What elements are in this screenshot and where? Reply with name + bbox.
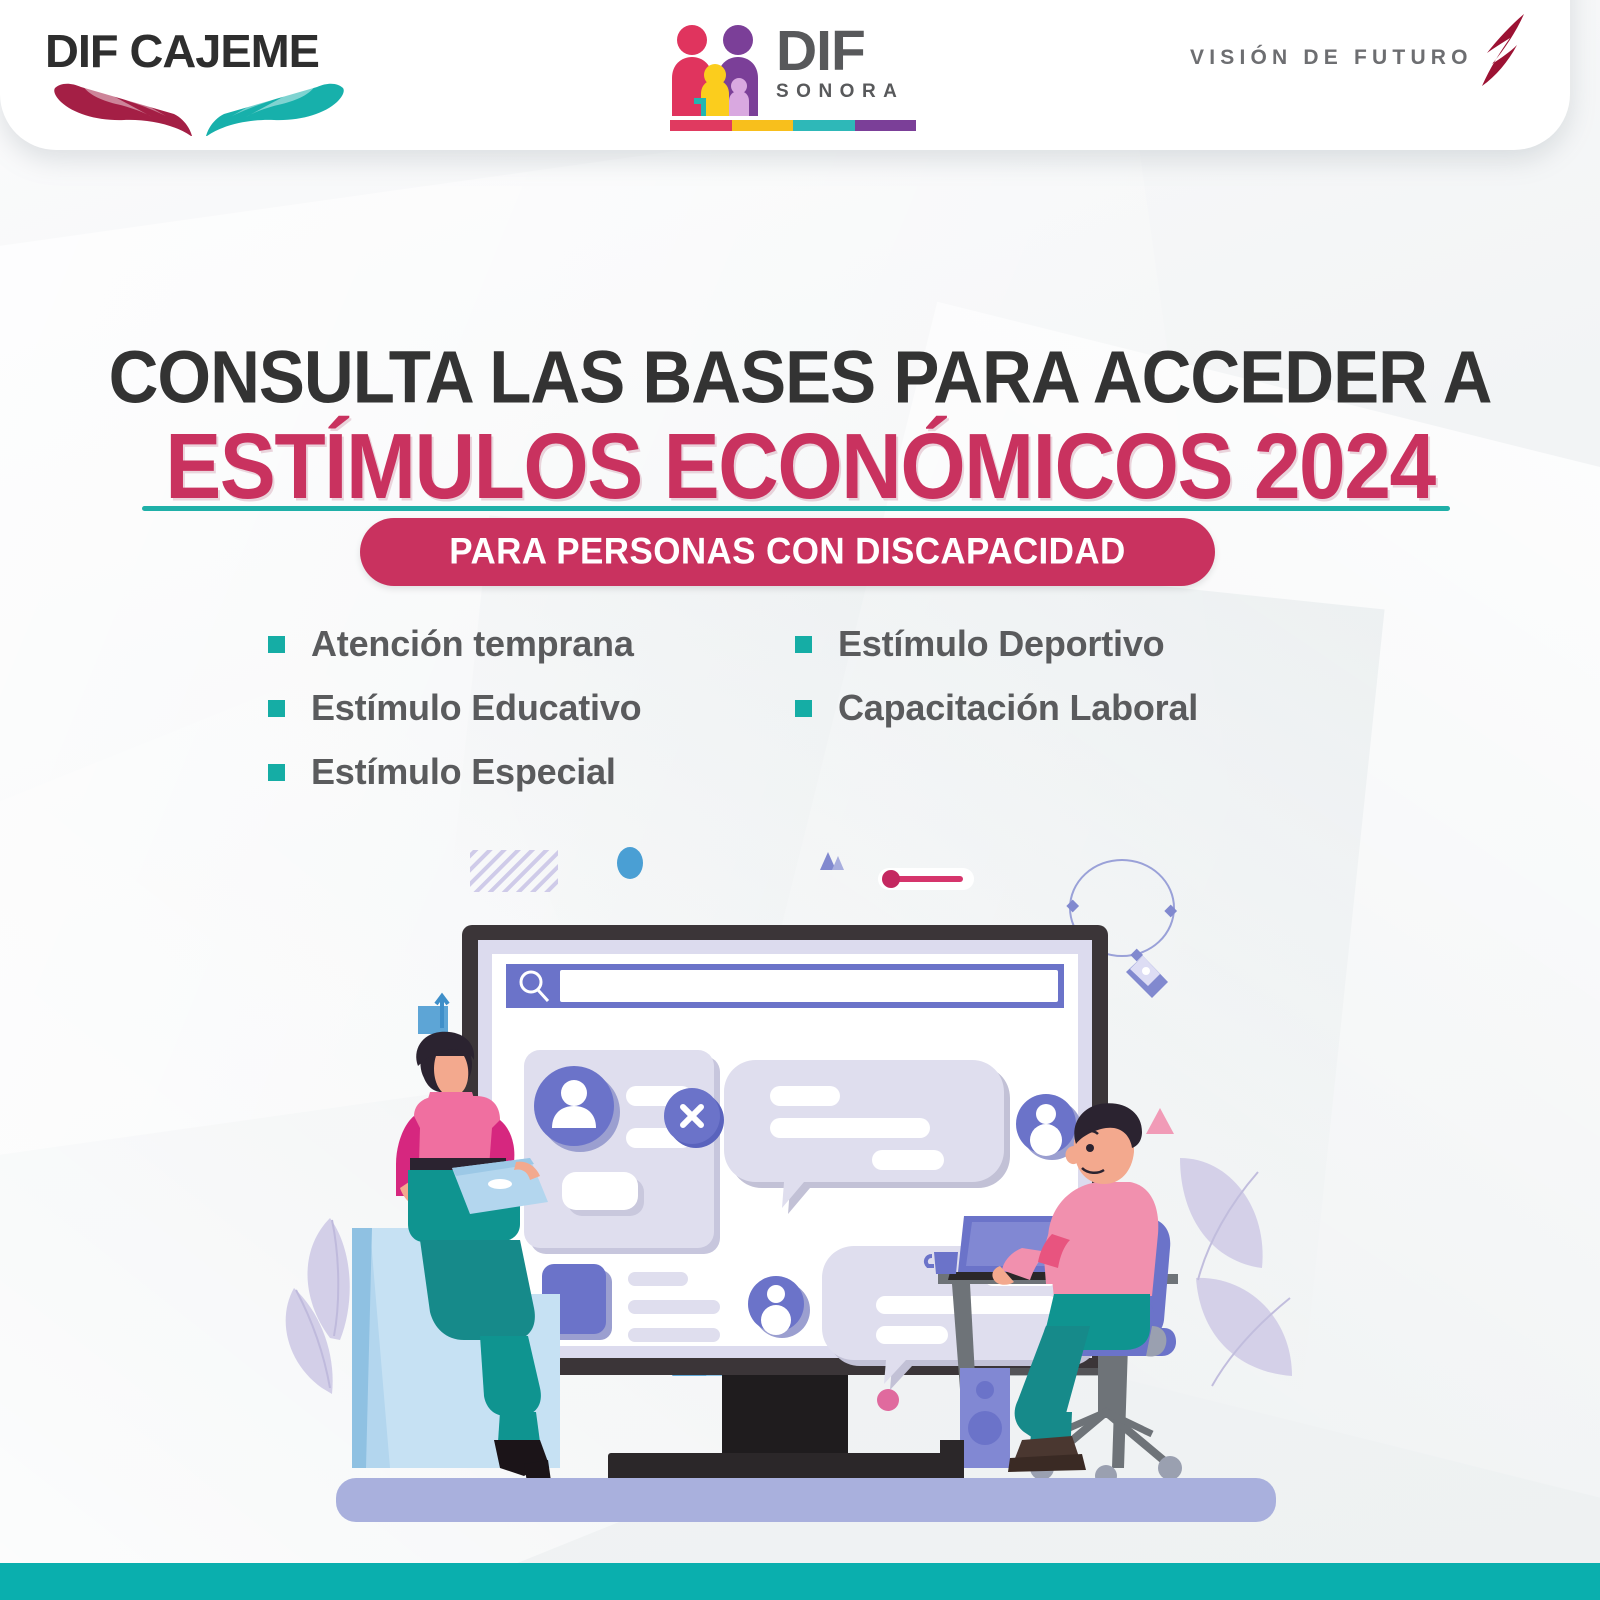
leaf-plant-decoration-right <box>1180 1158 1292 1386</box>
title-underline-rule <box>142 506 1450 511</box>
floor-platform <box>336 1478 1276 1522</box>
arrow-swoosh-icon <box>1458 10 1528 90</box>
header-card: DIF CAJEME DIF SONORA <box>0 0 1570 150</box>
title-block: CONSULTA LAS BASES PARA ACCEDER A ESTÍMU… <box>0 340 1600 504</box>
bullet-square-icon <box>268 636 285 653</box>
blue-ellipse-decoration <box>617 847 643 879</box>
arrow-up-square-decoration <box>418 996 448 1034</box>
bullet-square-icon <box>268 764 285 781</box>
footer-teal-bar <box>0 1563 1600 1600</box>
pink-triangle-decoration <box>1146 1108 1174 1134</box>
benefits-column-left: Atención temprana Estímulo Educativo Est… <box>268 612 641 804</box>
list-item: Atención temprana <box>268 612 641 676</box>
dif-cajeme-logo: DIF CAJEME <box>48 28 348 138</box>
slider-pill-decoration <box>878 868 974 890</box>
dif-sonora-color-bar <box>670 120 916 131</box>
triangle-decoration <box>820 852 844 870</box>
list-item: Estímulo Deportivo <box>795 612 1198 676</box>
benefits-column-right: Estímulo Deportivo Capacitación Laboral <box>795 612 1198 740</box>
list-item-label: Estímulo Especial <box>311 751 616 793</box>
list-item: Capacitación Laboral <box>795 676 1198 740</box>
two-hands-icon <box>54 80 344 136</box>
status-badge: PARA PERSONAS CON DISCAPACIDAD <box>360 518 1215 586</box>
vision-de-futuro-logo: VISIÓN DE FUTURO <box>1190 46 1520 106</box>
page-title-line2: ESTÍMULOS ECONÓMICOS 2024 <box>0 420 1600 512</box>
search-input <box>560 970 1058 1002</box>
list-item-label: Capacitación Laboral <box>838 687 1198 729</box>
list-item: Estímulo Especial <box>268 740 641 804</box>
search-bar <box>506 964 1064 1008</box>
leaf-plant-decoration <box>286 1218 350 1394</box>
dif-sonora-logo: DIF SONORA <box>668 24 928 142</box>
dif-cajeme-wordmark: DIF CAJEME <box>45 28 351 74</box>
dif-sonora-subtitle: SONORA <box>776 81 904 103</box>
dif-sonora-title: DIF <box>776 24 904 79</box>
dif-sonora-wordmark: DIF SONORA <box>776 24 904 103</box>
online-consultation-illustration <box>0 828 1600 1568</box>
bullet-square-icon <box>795 636 812 653</box>
list-item-label: Estímulo Educativo <box>311 687 641 729</box>
family-figures-icon <box>668 24 766 116</box>
hatched-square-decoration <box>470 850 558 892</box>
list-item-label: Estímulo Deportivo <box>838 623 1164 665</box>
page-title-line1: CONSULTA LAS BASES PARA ACCEDER A <box>0 340 1600 416</box>
profile-card <box>524 1050 720 1254</box>
list-item: Estímulo Educativo <box>268 676 641 740</box>
list-item-label: Atención temprana <box>311 623 634 665</box>
bullet-square-icon <box>268 700 285 717</box>
illustration-canvas <box>0 828 1600 1568</box>
status-badge-label: PARA PERSONAS CON DISCAPACIDAD <box>449 531 1125 573</box>
bullet-square-icon <box>795 700 812 717</box>
monitor-neck <box>722 1375 848 1453</box>
pink-dot-decoration <box>877 1389 899 1411</box>
